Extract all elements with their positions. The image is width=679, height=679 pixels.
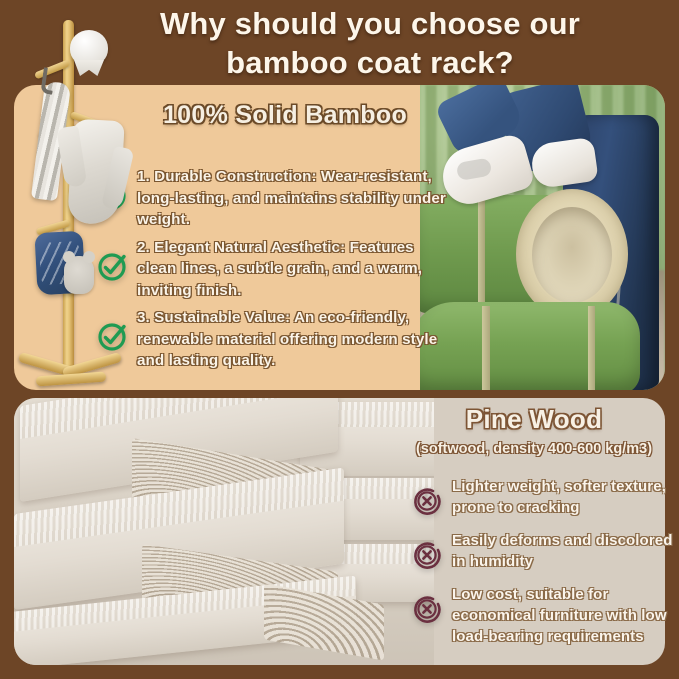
title-line-2: bamboo coat rack? <box>90 43 650 82</box>
list-item: 3. Sustainable Value: An eco-friendly, r… <box>96 307 451 372</box>
bamboo-node-ring-lower-1 <box>482 306 490 390</box>
bamboo-section-heading: 100% Solid Bamboo <box>120 101 450 130</box>
bamboo-log-cut-face <box>516 189 628 319</box>
pine-subtitle: (softwood, density 400-600 kg/m3) <box>399 441 669 457</box>
rack-base-bar-front <box>36 372 107 387</box>
bamboo-benefits-list: 1. Durable Construction: Wear-resistant,… <box>96 166 451 378</box>
bamboo-node-ring <box>478 197 485 317</box>
coat-on-rack <box>67 119 124 226</box>
title-line-1: Why should you choose our <box>90 4 650 43</box>
bamboo-hollow-interior <box>532 207 612 303</box>
coat-rack-illustration <box>16 8 126 390</box>
list-item: Lighter weight, softer texture, prone to… <box>412 476 674 518</box>
pine-title: Pine Wood <box>399 404 669 435</box>
pine-photo <box>14 398 434 665</box>
list-item-label: Lighter weight, softer texture, prone to… <box>444 476 674 518</box>
plank-grain <box>20 398 338 439</box>
list-item-label: Low cost, suitable for economical furnit… <box>444 584 674 647</box>
pine-section-heading: Pine Wood (softwood, density 400-600 kg/… <box>399 404 669 457</box>
list-item: Easily deforms and discolored in humidit… <box>412 530 674 572</box>
hat-brim <box>74 60 104 76</box>
bamboo-photo <box>420 85 665 390</box>
list-item-label: 1. Durable Construction: Wear-resistant,… <box>130 166 451 231</box>
cross-circle-icon <box>412 485 444 517</box>
list-item-label: 3. Sustainable Value: An eco-friendly, r… <box>130 307 451 372</box>
cross-circle-icon <box>412 539 444 571</box>
list-item-label: 2. Elegant Natural Aesthetic: Features c… <box>130 237 451 302</box>
list-item: 2. Elegant Natural Aesthetic: Features c… <box>96 237 451 302</box>
teddy-bear-charm <box>64 256 94 294</box>
bamboo-log-lower <box>420 302 640 390</box>
list-item-label: Easily deforms and discolored in humidit… <box>444 530 674 572</box>
infographic-canvas: Why should you choose our bamboo coat ra… <box>0 0 679 679</box>
list-item: Low cost, suitable for economical furnit… <box>412 584 674 647</box>
pine-drawbacks-list: Lighter weight, softer texture, prone to… <box>412 476 674 659</box>
cross-circle-icon <box>412 593 444 625</box>
bamboo-node-ring-lower-2 <box>588 306 595 390</box>
page-title: Why should you choose our bamboo coat ra… <box>90 4 650 84</box>
list-item: 1. Durable Construction: Wear-resistant,… <box>96 166 451 231</box>
